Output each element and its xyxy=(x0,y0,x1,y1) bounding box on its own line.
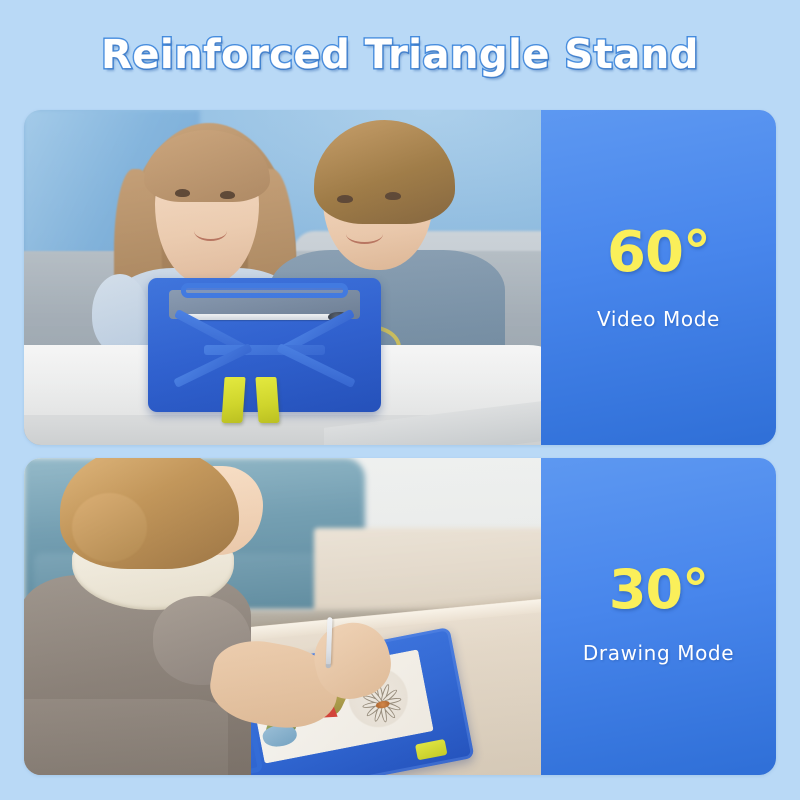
tablet-case-standing xyxy=(148,278,381,412)
product-photo-drawing-mode xyxy=(24,458,541,775)
mode-label-drawing-mode: Drawing Mode xyxy=(583,641,734,665)
girl-dress-skirt xyxy=(24,699,228,775)
feature-panel-video-mode: 60° Video Mode xyxy=(24,110,776,445)
triangle-kickstand-leg-right xyxy=(256,377,280,423)
boy-eye-right xyxy=(385,192,401,200)
case-rib-center xyxy=(204,345,325,356)
girl-sleeve-left xyxy=(92,274,148,353)
info-card-video-mode: 60° Video Mode xyxy=(541,110,776,445)
feature-panel-drawing-mode: 30° Drawing Mode xyxy=(24,458,776,775)
mode-label-video-mode: Video Mode xyxy=(597,307,720,331)
title-bar: Reinforced Triangle Stand xyxy=(0,0,800,110)
product-photo-video-mode xyxy=(24,110,541,445)
triangle-kickstand-leg-left xyxy=(221,377,245,423)
girl-eye-right xyxy=(220,191,235,200)
case-carry-handle xyxy=(181,283,349,298)
boy-hair xyxy=(314,120,455,224)
stylus-in-holder xyxy=(185,314,339,321)
boy-smile xyxy=(346,224,382,243)
angle-value-video-mode: 60° xyxy=(607,225,710,281)
info-card-drawing-mode: 30° Drawing Mode xyxy=(541,458,776,775)
page-title: Reinforced Triangle Stand xyxy=(101,32,699,78)
angle-value-drawing-mode: 30° xyxy=(609,563,708,617)
girl-eye-left xyxy=(175,189,190,198)
boy-eye-left xyxy=(337,195,353,203)
child-girl-drawing-figure xyxy=(24,458,303,775)
girl-hair-curl xyxy=(72,493,147,561)
